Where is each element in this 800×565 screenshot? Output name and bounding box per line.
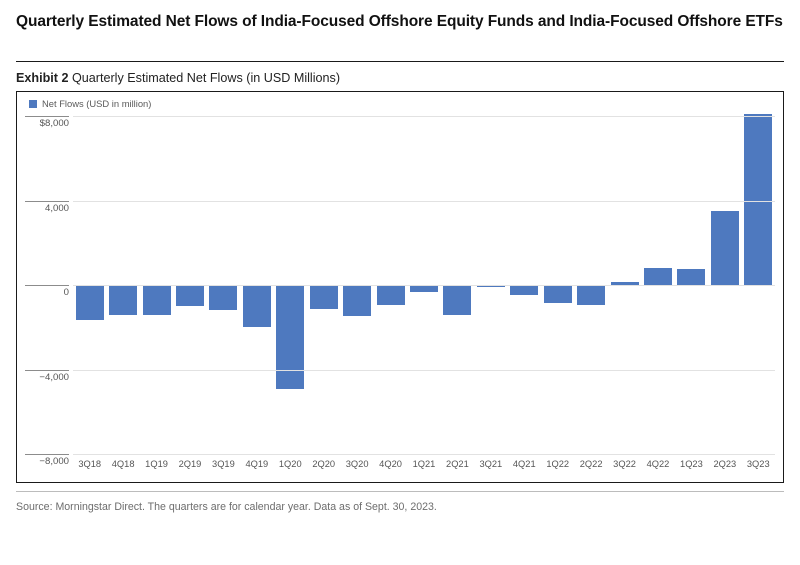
source-note: Source: Morningstar Direct. The quarters… [16,492,784,513]
x-axis-label: 4Q18 [106,459,139,469]
y-axis-label: −4,000 [21,372,69,383]
y-axis-tick [25,370,69,371]
bar[interactable] [677,269,705,285]
bar[interactable] [276,285,304,389]
exhibit-caption-body: Quarterly Estimated Net Flows (in USD Mi… [72,71,340,85]
y-axis-tick [25,201,69,202]
bar[interactable] [544,285,572,303]
exhibit-caption: Exhibit 2 Quarterly Estimated Net Flows … [16,62,784,91]
exhibit-label: Exhibit 2 [16,71,68,85]
y-axis-tick [25,116,69,117]
bar[interactable] [510,285,538,295]
legend-label: Net Flows (USD in million) [42,98,151,109]
gridline [73,285,775,286]
x-axis-label: 1Q23 [675,459,708,469]
x-axis-label: 2Q22 [574,459,607,469]
gridline [73,370,775,371]
y-axis-tick [25,285,69,286]
x-axis-label: 1Q19 [140,459,173,469]
x-axis-label: 2Q21 [441,459,474,469]
y-axis-label: 4,000 [21,203,69,214]
x-axis-label: 4Q20 [374,459,407,469]
bar[interactable] [711,211,739,285]
bar[interactable] [744,114,772,285]
x-axis-label: 3Q18 [73,459,106,469]
bar[interactable] [76,285,104,320]
x-axis-label: 2Q20 [307,459,340,469]
bar[interactable] [410,285,438,292]
page-root: Quarterly Estimated Net Flows of India-F… [0,0,800,565]
x-axis-label: 1Q21 [407,459,440,469]
x-axis-label: 2Q23 [708,459,741,469]
bar[interactable] [343,285,371,316]
x-axis-label: 1Q20 [274,459,307,469]
bar[interactable] [176,285,204,306]
plot-area: $8,0004,0000−4,000−8,000 [73,116,775,454]
bar[interactable] [310,285,338,309]
y-axis-label: 0 [21,287,69,298]
x-axis-label: 3Q20 [340,459,373,469]
chart-container: Net Flows (USD in million) $8,0004,0000−… [16,91,784,483]
x-axis-label: 4Q19 [240,459,273,469]
x-axis-label: 3Q23 [742,459,775,469]
x-axis-label: 3Q22 [608,459,641,469]
bar[interactable] [209,285,237,310]
gridline [73,116,775,117]
x-axis-label: 1Q22 [541,459,574,469]
bar[interactable] [443,285,471,315]
page-title: Quarterly Estimated Net Flows of India-F… [16,0,784,34]
chart-legend: Net Flows (USD in million) [29,98,151,109]
gridline [73,201,775,202]
x-axis-label: 4Q22 [641,459,674,469]
y-axis-label: −8,000 [21,456,69,467]
x-axis-label: 2Q19 [173,459,206,469]
bar[interactable] [644,268,672,285]
bar[interactable] [109,285,137,315]
gridline [73,454,775,455]
x-axis-label: 3Q21 [474,459,507,469]
y-axis-tick [25,454,69,455]
bar[interactable] [377,285,405,305]
y-axis-label: $8,000 [21,118,69,129]
x-axis-label: 3Q19 [207,459,240,469]
x-axis-labels: 3Q184Q181Q192Q193Q194Q191Q202Q203Q204Q20… [73,459,775,475]
bar[interactable] [577,285,605,305]
bar[interactable] [243,285,271,327]
x-axis-label: 4Q21 [508,459,541,469]
bar[interactable] [143,285,171,315]
legend-swatch-icon [29,100,37,108]
